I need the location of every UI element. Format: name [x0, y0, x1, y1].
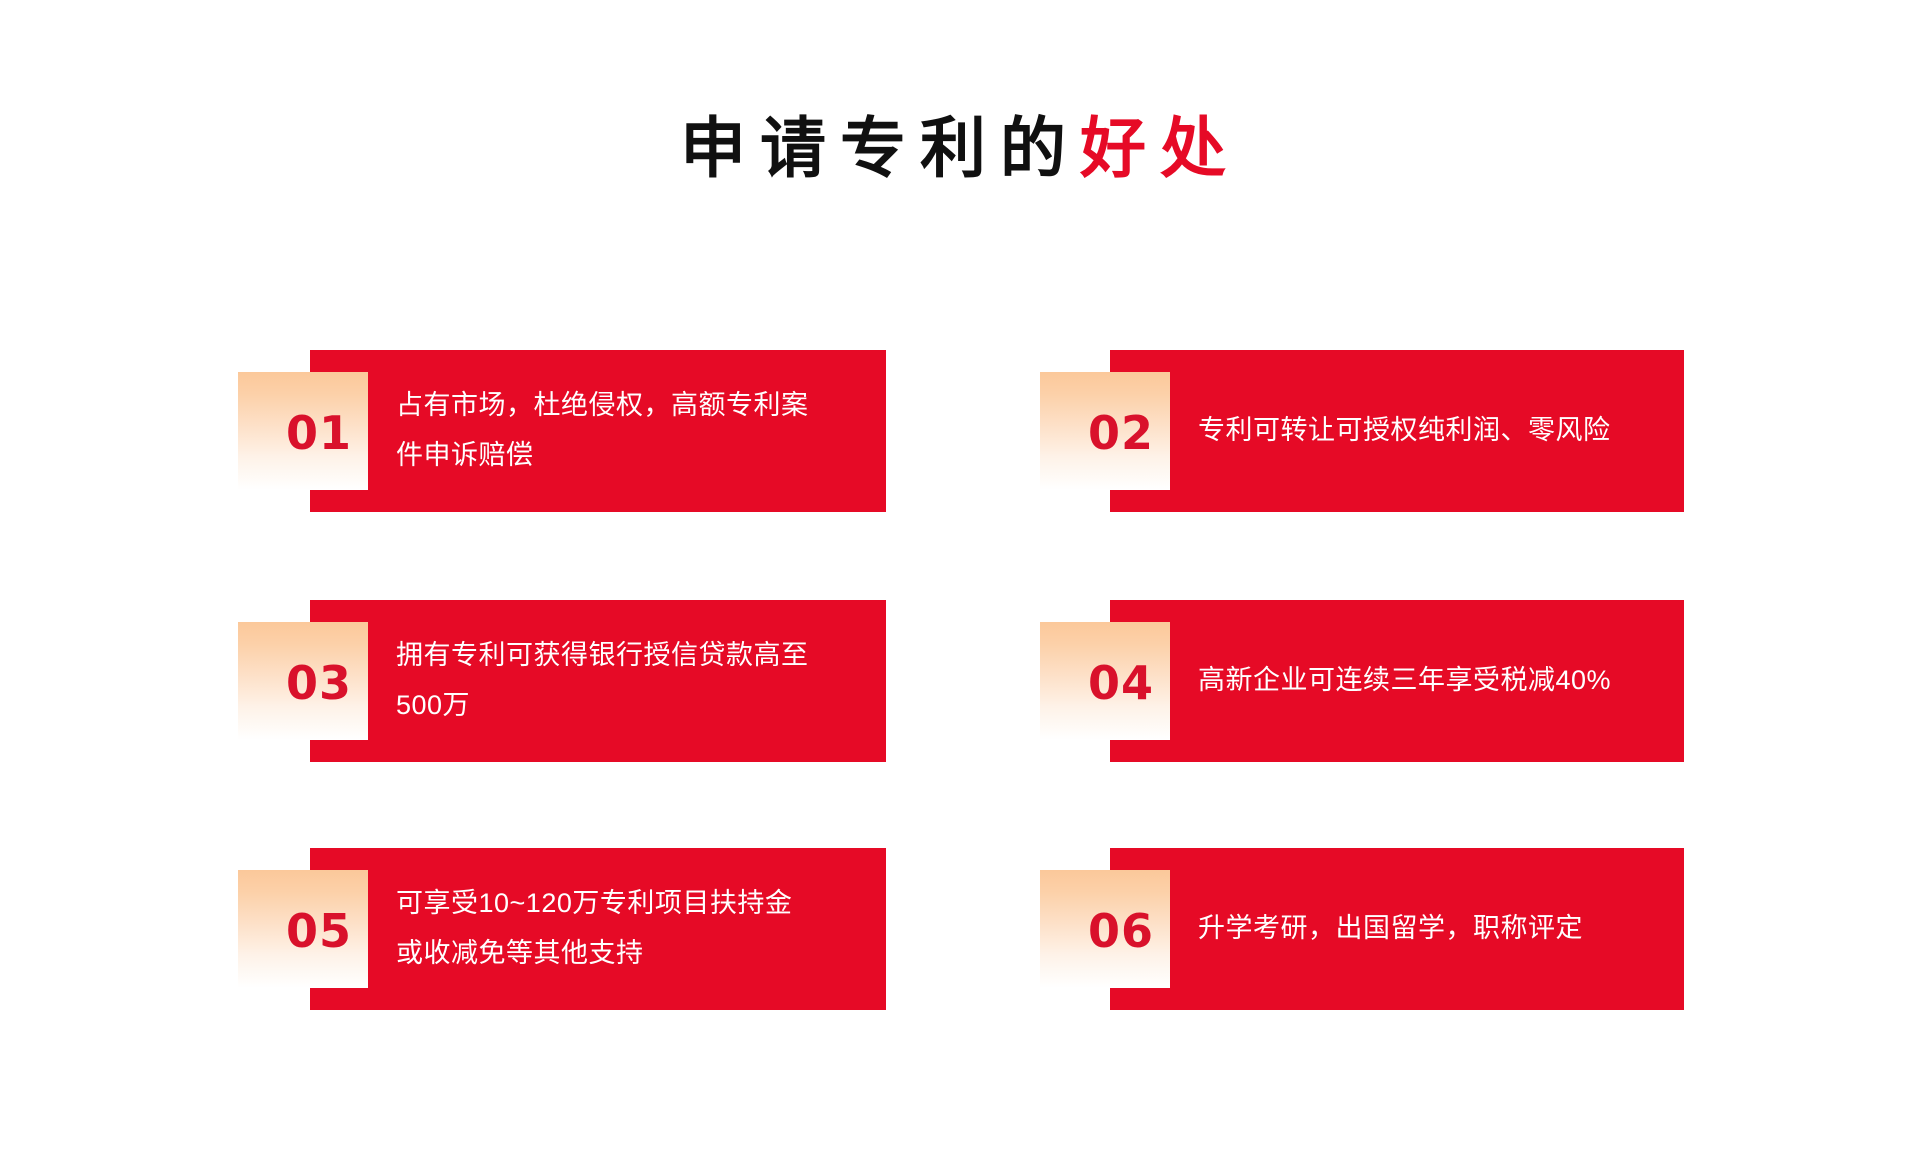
- benefit-card-text-line: 或收减免等其他支持: [396, 929, 870, 979]
- benefit-card-number: 05: [286, 908, 352, 954]
- benefit-card-04[interactable]: 04 高新企业可连续三年享受税减40%: [1040, 600, 1688, 762]
- benefit-card-text-line: 件申诉赔偿: [396, 431, 870, 481]
- benefit-card-grid: 01 占有市场，杜绝侵权，高额专利案 件申诉赔偿 02 专利可转让可授权纯利润、…: [238, 350, 1688, 1010]
- benefit-card-number: 01: [286, 410, 352, 456]
- benefit-card-text: 可享受10~120万专利项目扶持金 或收减免等其他支持: [396, 848, 876, 1010]
- benefit-card-text: 占有市场，杜绝侵权，高额专利案 件申诉赔偿: [396, 350, 876, 512]
- benefit-card-02[interactable]: 02 专利可转让可授权纯利润、零风险: [1040, 350, 1688, 512]
- benefit-card-number: 06: [1088, 908, 1154, 954]
- benefit-card-text-line: 升学考研，出国留学，职称评定: [1198, 904, 1692, 954]
- benefit-card-text: 专利可转让可授权纯利润、零风险: [1198, 350, 1698, 512]
- benefit-card-number-badge: 06: [1040, 870, 1170, 988]
- benefit-card-number: 04: [1088, 660, 1154, 706]
- benefit-card-number-badge: 05: [238, 870, 368, 988]
- benefit-card-text: 拥有专利可获得银行授信贷款高至 500万: [396, 600, 876, 762]
- benefit-card-number-badge: 01: [238, 372, 368, 490]
- benefit-card-text-line: 可享受10~120万专利项目扶持金: [396, 879, 870, 929]
- benefit-card-05[interactable]: 05 可享受10~120万专利项目扶持金 或收减免等其他支持: [238, 848, 886, 1010]
- benefit-card-number: 02: [1088, 410, 1154, 456]
- benefit-card-text: 高新企业可连续三年享受税减40%: [1198, 600, 1698, 762]
- page-title-main: 申请专利的: [680, 112, 1080, 185]
- benefit-card-06[interactable]: 06 升学考研，出国留学，职称评定: [1040, 848, 1688, 1010]
- page-title: 申请专利的好处: [0, 112, 1920, 185]
- benefit-card-number-badge: 04: [1040, 622, 1170, 740]
- benefit-card-text-line: 拥有专利可获得银行授信贷款高至: [396, 631, 870, 681]
- benefit-card-text-line: 专利可转让可授权纯利润、零风险: [1198, 406, 1692, 456]
- benefit-card-text-line: 500万: [396, 681, 870, 731]
- benefit-card-01[interactable]: 01 占有市场，杜绝侵权，高额专利案 件申诉赔偿: [238, 350, 886, 512]
- benefit-card-text-line: 高新企业可连续三年享受税减40%: [1198, 656, 1692, 706]
- benefit-card-number-badge: 02: [1040, 372, 1170, 490]
- benefit-card-text-line: 占有市场，杜绝侵权，高额专利案: [396, 381, 870, 431]
- poster-canvas: 申请专利的好处 01 占有市场，杜绝侵权，高额专利案 件申诉赔偿 02 专利可转…: [0, 0, 1920, 1166]
- benefit-card-03[interactable]: 03 拥有专利可获得银行授信贷款高至 500万: [238, 600, 886, 762]
- benefit-card-number: 03: [286, 660, 352, 706]
- benefit-card-number-badge: 03: [238, 622, 368, 740]
- page-title-accent: 好处: [1080, 112, 1240, 185]
- benefit-card-text: 升学考研，出国留学，职称评定: [1198, 848, 1698, 1010]
